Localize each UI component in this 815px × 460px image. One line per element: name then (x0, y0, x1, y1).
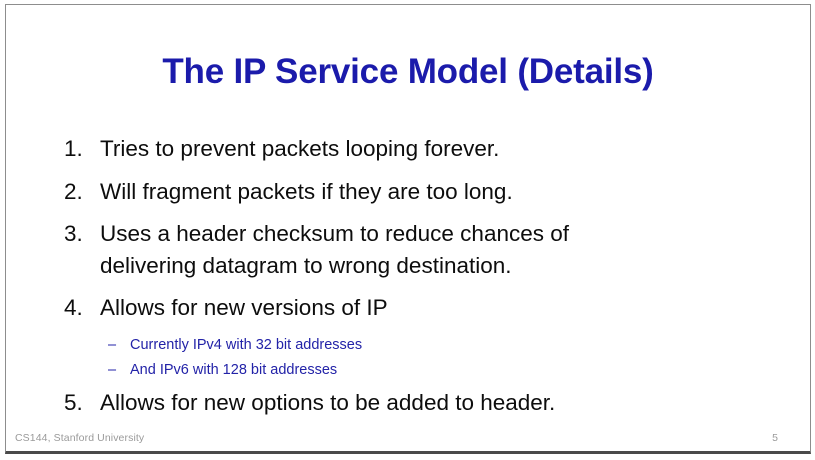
body-list: 1. Tries to prevent packets looping fore… (58, 133, 758, 429)
sub-list-item-label: And IPv6 with 128 bit addresses (130, 360, 758, 381)
list-item-text: Allows for new versions of IP (92, 292, 758, 324)
list-item-number: 3. (58, 218, 92, 250)
list-item: 3. Uses a header checksum to reduce chan… (58, 218, 758, 281)
list-item-number: 1. (58, 133, 92, 165)
slide-title: The IP Service Model (Details) (6, 53, 810, 92)
list-item-text: Tries to prevent packets looping forever… (92, 133, 758, 165)
en-dash-bullet-icon: – (58, 360, 130, 381)
slide-footer: CS144, Stanford University 5 (6, 425, 810, 451)
list-item: 2. Will fragment packets if they are too… (58, 176, 758, 208)
list-item-number: 5. (58, 387, 92, 419)
list-item-number: 4. (58, 292, 92, 324)
sub-list-item-label: Currently IPv4 with 32 bit addresses (130, 335, 758, 356)
list-item: 4. Allows for new versions of IP (58, 292, 758, 324)
list-item-number: 2. (58, 176, 92, 208)
list-item-line-2: delivering datagram to wrong destination… (100, 250, 758, 282)
list-item-text: Will fragment packets if they are too lo… (92, 176, 758, 208)
list-item-text: Allows for new options to be added to he… (92, 387, 758, 419)
sub-bullet-list: – Currently IPv4 with 32 bit addresses –… (58, 335, 758, 381)
list-item-line-1: Uses a header checksum to reduce chances… (100, 221, 569, 246)
sub-list-item: – And IPv6 with 128 bit addresses (58, 360, 758, 381)
footer-course-label: CS144, Stanford University (15, 432, 144, 444)
list-item: 5. Allows for new options to be added to… (58, 387, 758, 419)
slide: The IP Service Model (Details) 1. Tries … (5, 4, 811, 454)
sub-list-item: – Currently IPv4 with 32 bit addresses (58, 335, 758, 356)
en-dash-bullet-icon: – (58, 335, 130, 356)
list-item-text: Uses a header checksum to reduce chances… (92, 218, 758, 281)
list-item: 1. Tries to prevent packets looping fore… (58, 133, 758, 165)
slide-page-number: 5 (772, 432, 802, 444)
